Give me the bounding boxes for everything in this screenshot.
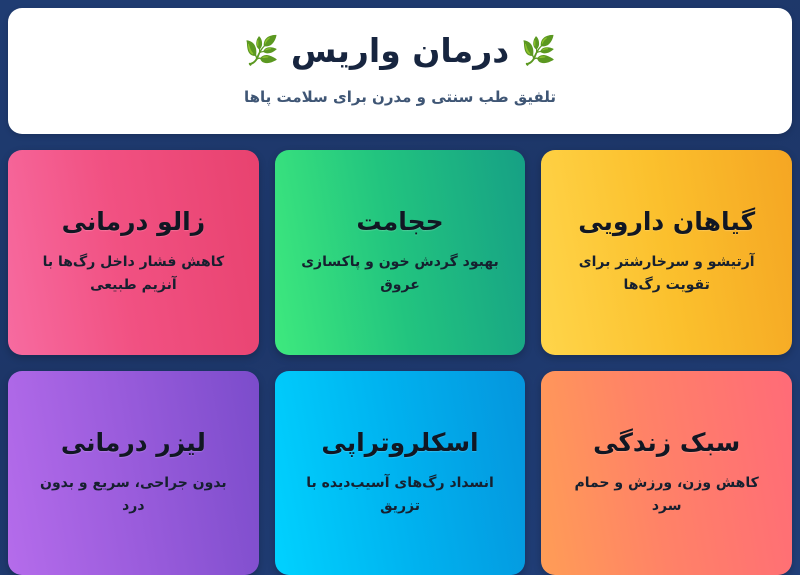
herb-leaf-icon-right: 🌿 — [521, 37, 556, 65]
card-title: سبک زندگی — [593, 428, 740, 458]
card-description: بدون جراحی، سریع و بدون درد — [31, 472, 236, 518]
card-title: حجامت — [356, 207, 443, 237]
card-title: زالو درمانی — [62, 207, 206, 237]
treatment-card-leech-therapy[interactable]: زالو درمانی کاهش فشار داخل رگ‌ها با آنزی… — [8, 150, 259, 354]
card-description: آرتیشو و سرخارشتر برای تقویت رگ‌ها — [564, 251, 769, 297]
card-title: لیزر درمانی — [61, 428, 206, 458]
card-description: بهبود گردش خون و پاکسازی عروق — [298, 251, 503, 297]
treatment-card-grid: گیاهان دارویی آرتیشو و سرخارشتر برای تقو… — [8, 134, 792, 575]
header-card: 🌿 درمان واریس 🌿 تلفیق طب سنتی و مدرن برا… — [8, 8, 792, 134]
page-title-text: درمان واریس — [291, 30, 509, 71]
page-subtitle: تلفیق طب سنتی و مدرن برای سلامت پاها — [32, 87, 768, 108]
treatment-card-herbs[interactable]: گیاهان دارویی آرتیشو و سرخارشتر برای تقو… — [541, 150, 792, 354]
treatment-card-cupping[interactable]: حجامت بهبود گردش خون و پاکسازی عروق — [275, 150, 526, 354]
card-title: اسکلروتراپی — [321, 428, 478, 458]
herb-leaf-icon-left: 🌿 — [244, 37, 279, 65]
card-title: گیاهان دارویی — [578, 207, 755, 237]
page-title: 🌿 درمان واریس 🌿 — [32, 30, 768, 71]
page-root: 🌿 درمان واریس 🌿 تلفیق طب سنتی و مدرن برا… — [0, 0, 800, 575]
card-description: کاهش فشار داخل رگ‌ها با آنزیم طبیعی — [31, 251, 236, 297]
card-description: انسداد رگ‌های آسیب‌دیده با تزریق — [298, 472, 503, 518]
treatment-card-laser-therapy[interactable]: لیزر درمانی بدون جراحی، سریع و بدون درد — [8, 371, 259, 575]
treatment-card-lifestyle[interactable]: سبک زندگی کاهش وزن، ورزش و حمام سرد — [541, 371, 792, 575]
card-description: کاهش وزن، ورزش و حمام سرد — [564, 472, 769, 518]
treatment-card-sclerotherapy[interactable]: اسکلروتراپی انسداد رگ‌های آسیب‌دیده با ت… — [275, 371, 526, 575]
